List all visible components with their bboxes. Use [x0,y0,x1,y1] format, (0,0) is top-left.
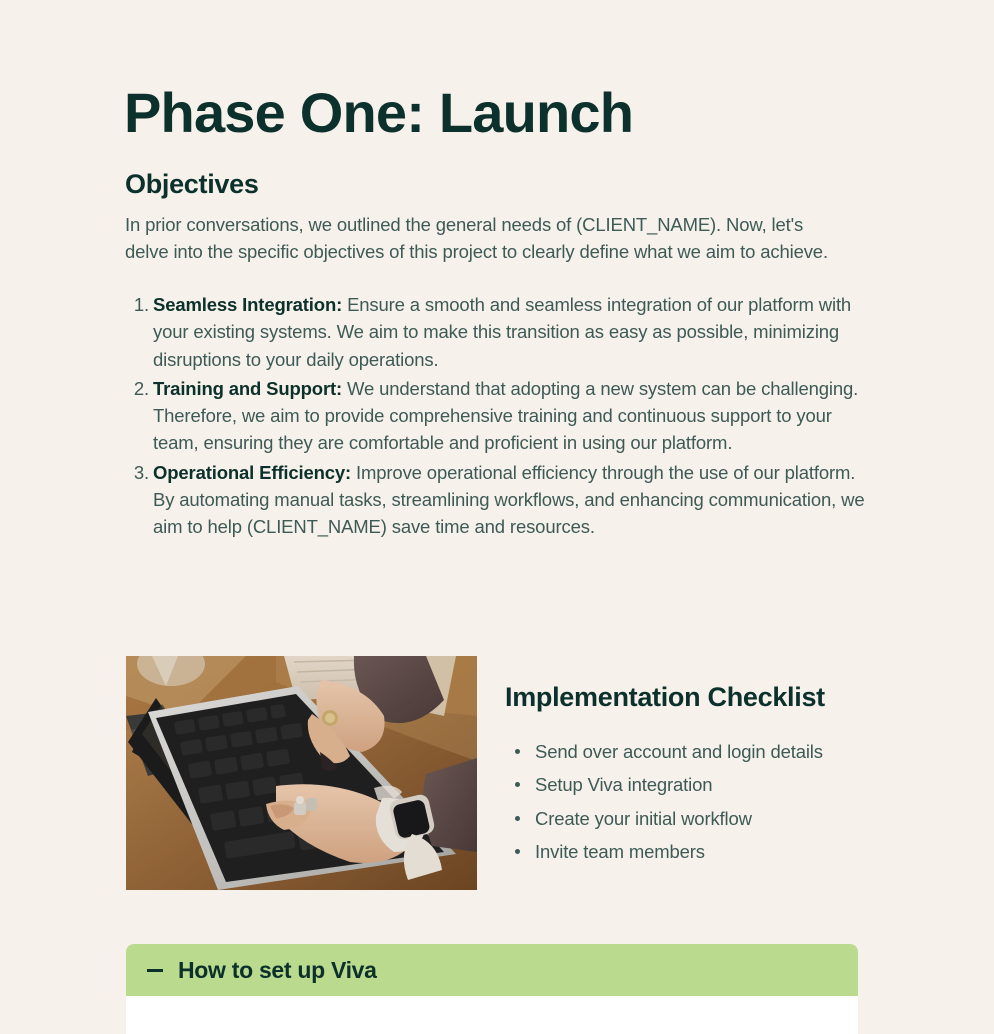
list-item: Setup Viva integration [505,771,855,798]
list-item: Create your initial workflow [505,805,855,832]
list-item: 1.Seamless Integration: Ensure a smooth … [125,291,870,373]
list-item-number: 1. [129,291,149,318]
list-item: Send over account and login details [505,738,855,765]
implementation-checklist: Send over account and login details Setu… [505,738,855,871]
list-item-number: 2. [129,375,149,402]
accordion-how-to-set-up-viva: How to set up Viva [126,944,858,1034]
accordion-title: How to set up Viva [178,957,377,984]
accordion-panel [126,996,858,1034]
objectives-list: 1.Seamless Integration: Ensure a smooth … [125,291,870,543]
page-title: Phase One: Launch [124,82,633,145]
list-item-label: Send over account and login details [535,741,823,762]
bullet-icon [515,849,520,854]
objectives-intro-paragraph: In prior conversations, we outlined the … [125,211,845,266]
list-item-label: Setup Viva integration [535,774,712,795]
list-item-label: Invite team members [535,841,705,862]
list-item-lead: Training and Support: [153,378,342,399]
list-item: 3.Operational Efficiency: Improve operat… [125,459,870,541]
accordion-header[interactable]: How to set up Viva [126,944,858,996]
laptop-photo [126,656,477,890]
document-page: Phase One: Launch Objectives In prior co… [0,0,994,1024]
list-item: Invite team members [505,838,855,865]
bullet-icon [515,749,520,754]
bullet-icon [515,782,520,787]
objectives-heading: Objectives [125,168,259,200]
list-item-number: 3. [129,459,149,486]
checklist-heading: Implementation Checklist [505,680,835,715]
list-item-lead: Seamless Integration: [153,294,342,315]
list-item-lead: Operational Efficiency: [153,462,351,483]
list-item: 2.Training and Support: We understand th… [125,375,870,457]
minus-icon[interactable] [146,961,164,979]
bullet-icon [515,816,520,821]
list-item-label: Create your initial workflow [535,808,752,829]
